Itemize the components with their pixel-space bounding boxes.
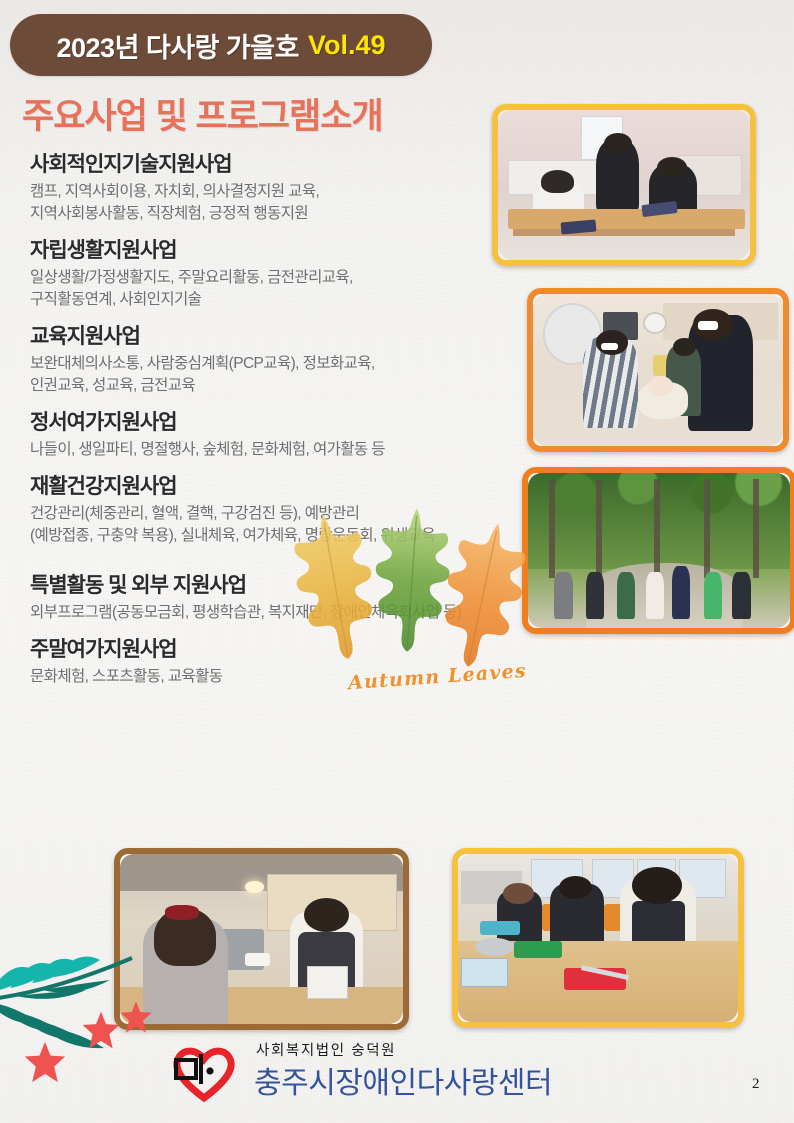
organization-name: 충주시장애인다사랑센터 xyxy=(254,1058,552,1102)
page-number: 2 xyxy=(752,1076,760,1093)
photo-forest-walk xyxy=(522,467,794,634)
issue-title-banner: 2023년 다사랑 가을호 Vol.49 xyxy=(10,14,432,76)
photo-cooking-activity xyxy=(452,848,744,1028)
program-item: 교육지원사업 보완대체의사소통, 사람중심계획(PCP교육), 정보화교육, 인… xyxy=(30,320,590,397)
heart-logo-icon xyxy=(168,1040,238,1104)
photo-baby-care-training xyxy=(527,288,789,452)
photo-tablet-education xyxy=(492,104,756,266)
program-description: 나들이, 생일파티, 명절행사, 숲체험, 문화체험, 여가활동 등 xyxy=(30,439,590,461)
starfish-icon xyxy=(22,1040,68,1084)
issue-volume-text: Vol.49 xyxy=(308,30,386,61)
program-description: 보완대체의사소통, 사람중심계획(PCP교육), 정보화교육, 인권교육, 성교… xyxy=(30,353,590,397)
organization-footer: 사회복지법인 숭덕원 충주시장애인다사랑센터 xyxy=(168,1036,638,1110)
program-description: 일상생활/가정생활지도, 주말요리활동, 금전관리교육, 구직활동연계, 사회인… xyxy=(30,267,590,311)
organization-subtitle: 사회복지법인 숭덕원 xyxy=(256,1039,396,1060)
program-item: 정서여가지원사업 나들이, 생일파티, 명절행사, 숲체험, 문화체험, 여가활… xyxy=(30,406,590,461)
starfish-icon xyxy=(80,1010,122,1050)
photo-cafe-work-experience xyxy=(114,848,409,1030)
issue-title-text: 2023년 다사랑 가을호 xyxy=(57,26,299,65)
program-title: 정서여가지원사업 xyxy=(30,406,590,436)
starfish-icon xyxy=(118,1000,154,1034)
program-title: 재활건강지원사업 xyxy=(30,470,590,500)
page-canvas: 2023년 다사랑 가을호 Vol.49 주요사업 및 프로그램소개 사회적인지… xyxy=(0,0,794,1123)
page-title: 주요사업 및 프로그램소개 xyxy=(22,88,383,139)
program-title: 교육지원사업 xyxy=(30,320,590,350)
